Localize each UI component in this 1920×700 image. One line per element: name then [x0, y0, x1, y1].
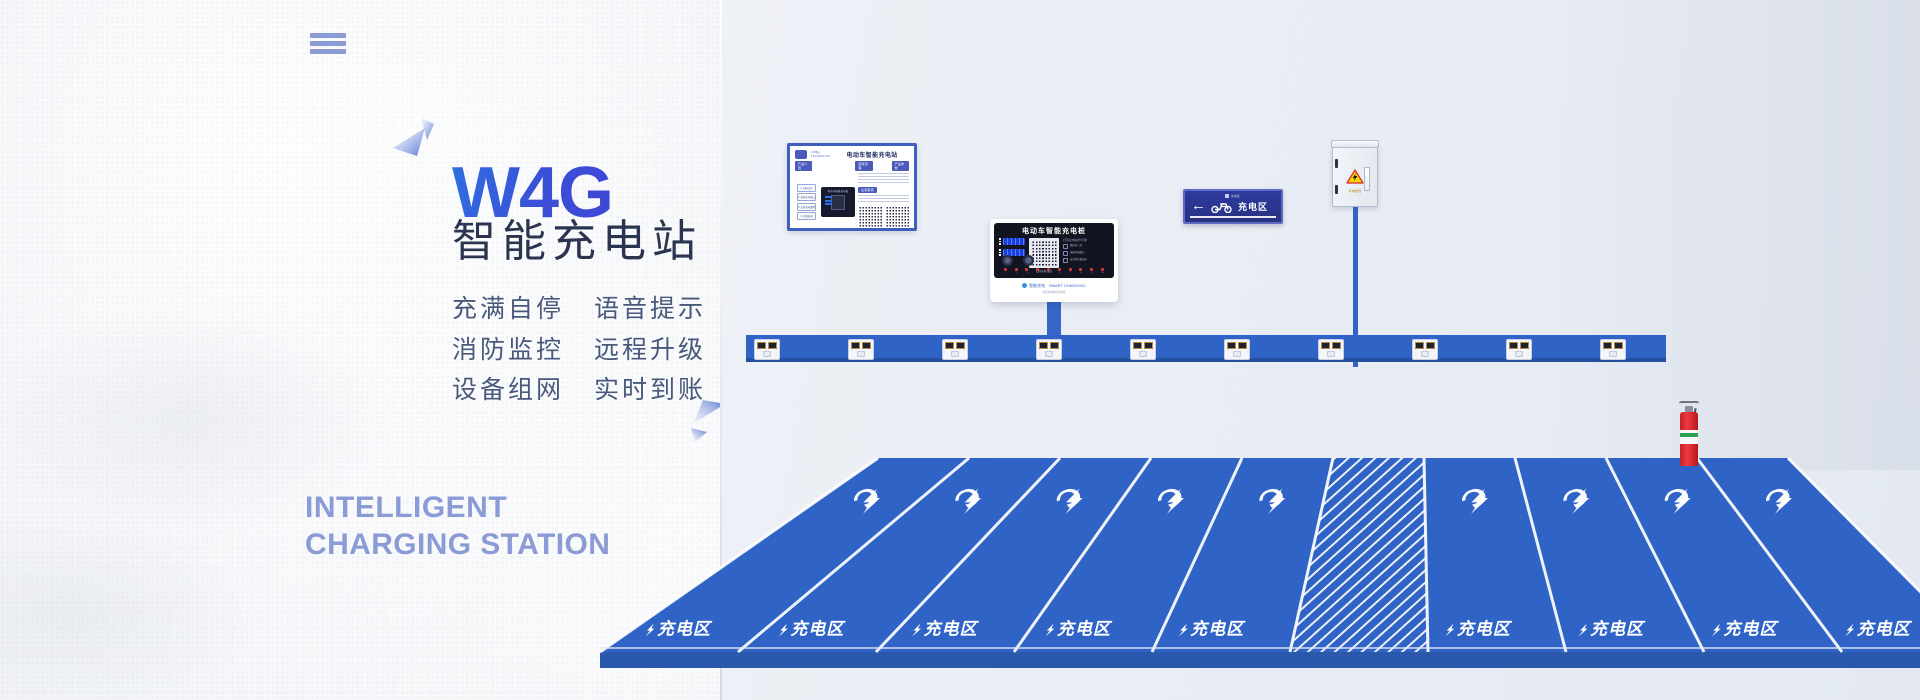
extinguisher-label-stripe	[1680, 433, 1698, 437]
socket-indicator	[1233, 351, 1241, 357]
wall-socket[interactable]	[1130, 339, 1156, 360]
charging-pile-title: 电动车智能充电桩	[1022, 226, 1086, 236]
poster-param-lines	[858, 173, 909, 185]
charging-pile-displays	[999, 238, 1025, 256]
poster-logo-icon	[795, 150, 807, 159]
socket-outlets	[1415, 342, 1435, 349]
direction-sign-text: 充电区	[1238, 200, 1268, 213]
port-indicator: 3	[1025, 268, 1028, 274]
poster-tag: 使用流程	[855, 161, 872, 171]
port-indicator-led	[1090, 268, 1093, 271]
parking-floor: 充电区充电区充电区充电区充电区充电区充电区充电区充电区	[560, 452, 1920, 700]
poster-tag: 产品介绍	[795, 161, 812, 171]
feature-item: 实时到账	[594, 375, 706, 406]
scooter-icon	[1211, 200, 1233, 213]
wall-socket[interactable]	[1600, 339, 1626, 360]
poster-tag-row: 产品介绍 使用流程 产品参数	[795, 161, 909, 171]
poster-tag-notice: 注意事项	[858, 187, 877, 193]
feature-column-right: 语音提示 远程升级 实时到账	[594, 294, 706, 406]
wall-socket[interactable]	[754, 339, 780, 360]
charging-pile-port-indicators: 12345678910	[994, 268, 1114, 274]
bay-label: 充电区	[656, 619, 715, 639]
port-indicator-label: 1	[1005, 272, 1006, 274]
hamburger-bar	[310, 33, 346, 38]
port-indicator-led	[1101, 268, 1104, 271]
feature-column-left: 充满自停 消防监控 设备组网	[452, 294, 564, 406]
socket-indicator	[1421, 351, 1429, 357]
poster-logo-text: XX电子 TECHNOLOGY	[811, 151, 831, 157]
brand-logo-icon	[1022, 283, 1027, 288]
port-indicator: 9	[1090, 268, 1093, 274]
bay-label: 充电区	[789, 619, 848, 639]
direction-sign-small-text: 充电区	[1225, 194, 1240, 198]
port-indicator: 8	[1079, 268, 1082, 274]
cabinet-warning-text: 有电危险	[1346, 189, 1364, 193]
poster-step: 4. 开始充电	[797, 212, 817, 220]
port-indicator: 2	[1015, 268, 1018, 274]
port-indicator-label: 5	[1048, 272, 1049, 274]
poster-device-leds	[825, 196, 832, 207]
port-indicator: 4	[1036, 268, 1039, 274]
port-indicator-label: 9	[1091, 272, 1092, 274]
cabinet-hinge	[1335, 159, 1338, 168]
poster-qr-left	[858, 207, 882, 231]
charging-pile-control-knobs	[1002, 255, 1034, 266]
left-arrow-icon: ←	[1191, 198, 1206, 213]
port-indicator: 1	[1004, 268, 1007, 274]
poster-steps: 1. 扫码关注 2. 选择充电端口 3. 支付充电费用 4. 开始充电	[795, 173, 818, 231]
wall-socket[interactable]	[848, 339, 874, 360]
feature-item: 充满自停	[452, 294, 564, 325]
charging-pile-brand-bar: 智能充电 SMART CHARGING 智能充电桩控制系统	[994, 278, 1114, 298]
socket-outlets	[1227, 342, 1247, 349]
poster-qr-right	[885, 207, 909, 231]
wall-shade	[1560, 0, 1920, 470]
electrical-cabinet: 有电危险	[1332, 144, 1378, 207]
port-indicator: 6	[1058, 268, 1061, 274]
charging-pile-instructions: 扫码充电操作步骤 微信扫一扫 选择空闲端口 支付并开始充电	[1063, 238, 1109, 265]
feature-item: 设备组网	[452, 375, 564, 406]
socket-indicator	[1045, 351, 1053, 357]
floor-edge-band	[600, 652, 1920, 668]
led-display	[1003, 238, 1026, 245]
instruction-line: 选择空闲端口	[1070, 252, 1084, 255]
wall-socket[interactable]	[1224, 339, 1250, 360]
bay-label: 充电区	[1456, 619, 1515, 639]
bay-label: 充电区	[1856, 619, 1915, 639]
direction-sign: ← 充电区 充电区	[1183, 189, 1283, 224]
socket-indicator	[951, 351, 959, 357]
page-subtitle: 智能充电站	[452, 216, 702, 269]
cabinet-top-cap	[1331, 140, 1379, 148]
wall-socket[interactable]	[1318, 339, 1344, 360]
poster-device-caption: 电动车智能充电桩	[828, 189, 849, 193]
cabinet-hinge	[1335, 185, 1338, 194]
port-indicator-led	[1015, 268, 1018, 271]
step-icon	[1063, 258, 1068, 263]
feature-list: 充满自停 消防监控 设备组网 语音提示 远程升级 实时到账	[452, 294, 706, 406]
hamburger-bar	[310, 41, 346, 46]
feature-item: 语音提示	[594, 294, 706, 325]
port-indicator-led	[1025, 268, 1028, 271]
socket-outlets	[945, 342, 965, 349]
wall-socket[interactable]	[1412, 339, 1438, 360]
brand-sub: SMART CHARGING	[1049, 283, 1086, 288]
bay-label: 充电区	[1589, 619, 1648, 639]
bay-label: 充电区	[1189, 619, 1248, 639]
port-indicator-led	[1036, 268, 1039, 271]
charging-pile: 电动车智能充电桩 扫码充电/关注 扫码充电操作步骤 微信扫一扫 选择空闲端口	[990, 219, 1118, 302]
illustration-scene: XX电子 TECHNOLOGY 电动车智能充电站 产品介绍 使用流程 产品参数 …	[720, 0, 1920, 700]
hamburger-bar	[310, 49, 346, 54]
promo-banner: W4G 智能充电站 充满自停 消防监控 设备组网 语音提示 远程升级 实时到账 …	[0, 0, 1920, 700]
socket-indicator	[763, 351, 771, 357]
socket-outlets	[1133, 342, 1153, 349]
poster-header: XX电子 TECHNOLOGY 电动车智能充电站	[795, 150, 909, 159]
high-voltage-warning-icon: 有电危险	[1346, 169, 1364, 189]
socket-indicator	[1327, 351, 1335, 357]
wall-socket[interactable]	[942, 339, 968, 360]
poster-params: 注意事项	[858, 173, 909, 231]
information-poster: XX电子 TECHNOLOGY 电动车智能充电站 产品介绍 使用流程 产品参数 …	[787, 143, 917, 231]
socket-outlets	[1039, 342, 1059, 349]
port-indicator-label: 10	[1101, 272, 1103, 274]
port-indicator-label: 3	[1026, 272, 1027, 274]
wall-socket[interactable]	[1036, 339, 1062, 360]
fire-extinguisher	[1678, 400, 1700, 466]
port-indicator-label: 6	[1059, 272, 1060, 274]
port-indicator-label: 7	[1070, 272, 1071, 274]
cabinet-vent	[1364, 167, 1370, 191]
poster-qr-group	[858, 207, 909, 231]
feature-item: 消防监控	[452, 335, 564, 366]
feature-item: 远程升级	[594, 335, 706, 366]
socket-indicator	[857, 351, 865, 357]
port-indicator-label: 8	[1080, 272, 1081, 274]
socket-outlets	[1509, 342, 1529, 349]
wall-socket[interactable]	[1506, 339, 1532, 360]
fan-icon	[1002, 255, 1013, 266]
socket-indicator	[1609, 351, 1617, 357]
socket-outlets	[1321, 342, 1341, 349]
port-indicator-led	[1069, 268, 1072, 271]
bay-label: 充电区	[1056, 619, 1115, 639]
bay-label: 充电区	[923, 619, 982, 639]
port-indicator-led	[1079, 268, 1082, 271]
brand-logo: 智能充电	[1022, 283, 1045, 289]
socket-outlets	[757, 342, 777, 349]
brand-caption: 智能充电桩控制系统	[1042, 290, 1065, 294]
charging-pile-panel: 电动车智能充电桩 扫码充电/关注 扫码充电操作步骤 微信扫一扫 选择空闲端口	[994, 223, 1114, 278]
hamburger-menu-icon[interactable]	[310, 33, 346, 54]
instruction-line: 微信扫一扫	[1070, 245, 1082, 248]
port-indicator: 5	[1047, 268, 1050, 274]
poster-step: 2. 选择充电端口	[797, 193, 817, 201]
instruction-line: 支付并开始充电	[1070, 259, 1087, 262]
port-indicator: 7	[1069, 268, 1072, 274]
instructions-title: 扫码充电操作步骤	[1063, 238, 1109, 242]
socket-indicator	[1515, 351, 1523, 357]
poster-notice-lines	[858, 195, 909, 204]
port-indicator-label: 2	[1016, 272, 1017, 274]
poster-step: 3. 支付充电费用	[797, 203, 817, 211]
step-icon	[1063, 251, 1068, 256]
decor-arrow-top	[393, 118, 435, 162]
poster-device-screen	[831, 195, 845, 210]
port-indicator: 10	[1101, 268, 1104, 274]
power-knob-icon	[1023, 255, 1034, 266]
poster-step: 1. 扫码关注	[797, 184, 817, 192]
port-indicator-label: 4	[1037, 272, 1038, 274]
socket-outlets	[851, 342, 871, 349]
port-indicator-led	[1004, 268, 1007, 271]
poster-body: 1. 扫码关注 2. 选择充电端口 3. 支付充电费用 4. 开始充电 电动车智…	[795, 173, 909, 231]
socket-indicator	[1139, 351, 1147, 357]
bay-label: 充电区	[1722, 619, 1781, 639]
socket-outlets	[1603, 342, 1623, 349]
poster-title: 电动车智能充电站	[835, 150, 909, 159]
poster-tag: 产品参数	[892, 161, 909, 171]
port-indicator-led	[1058, 268, 1061, 271]
poster-device-image: 电动车智能充电桩	[821, 173, 855, 231]
port-indicator-led	[1047, 268, 1050, 271]
direction-sign-underline	[1190, 216, 1276, 218]
step-icon	[1063, 244, 1068, 249]
